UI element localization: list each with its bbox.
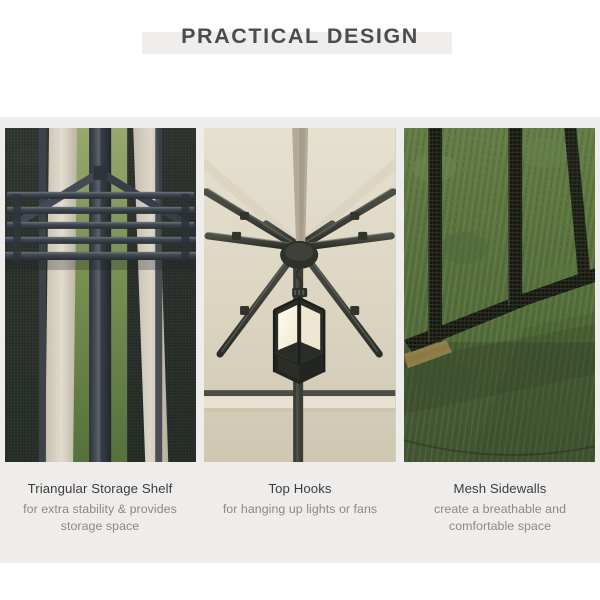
feature-title: Mesh Sidewalls [408,479,592,498]
feature-caption-storage-shelf: Triangular Storage Shelf for extra stabi… [0,479,200,563]
feature-captions: Triangular Storage Shelf for extra stabi… [0,479,600,563]
feature-title: Top Hooks [208,479,392,498]
page-title: PRACTICAL DESIGN [0,22,600,50]
top-hooks-photo [204,128,395,462]
practical-design-poster: PRACTICAL DESIGN [0,0,600,600]
feature-title: Triangular Storage Shelf [8,479,192,498]
mesh-sidewalls-photo [404,128,595,462]
feature-subtitle: create a breathable and comfortable spac… [408,501,592,535]
feature-photo-strip [5,128,595,462]
feature-caption-top-hooks: Top Hooks for hanging up lights or fans [200,479,400,563]
feature-subtitle: for hanging up lights or fans [208,501,392,518]
feature-caption-mesh-sidewalls: Mesh Sidewalls create a breathable and c… [400,479,600,563]
poster-header: PRACTICAL DESIGN [0,0,600,117]
content-block: Triangular Storage Shelf for extra stabi… [0,117,600,563]
poster-footer [0,563,600,600]
triangular-storage-shelf-photo [5,128,196,462]
feature-subtitle: for extra stability & provides storage s… [8,501,192,535]
